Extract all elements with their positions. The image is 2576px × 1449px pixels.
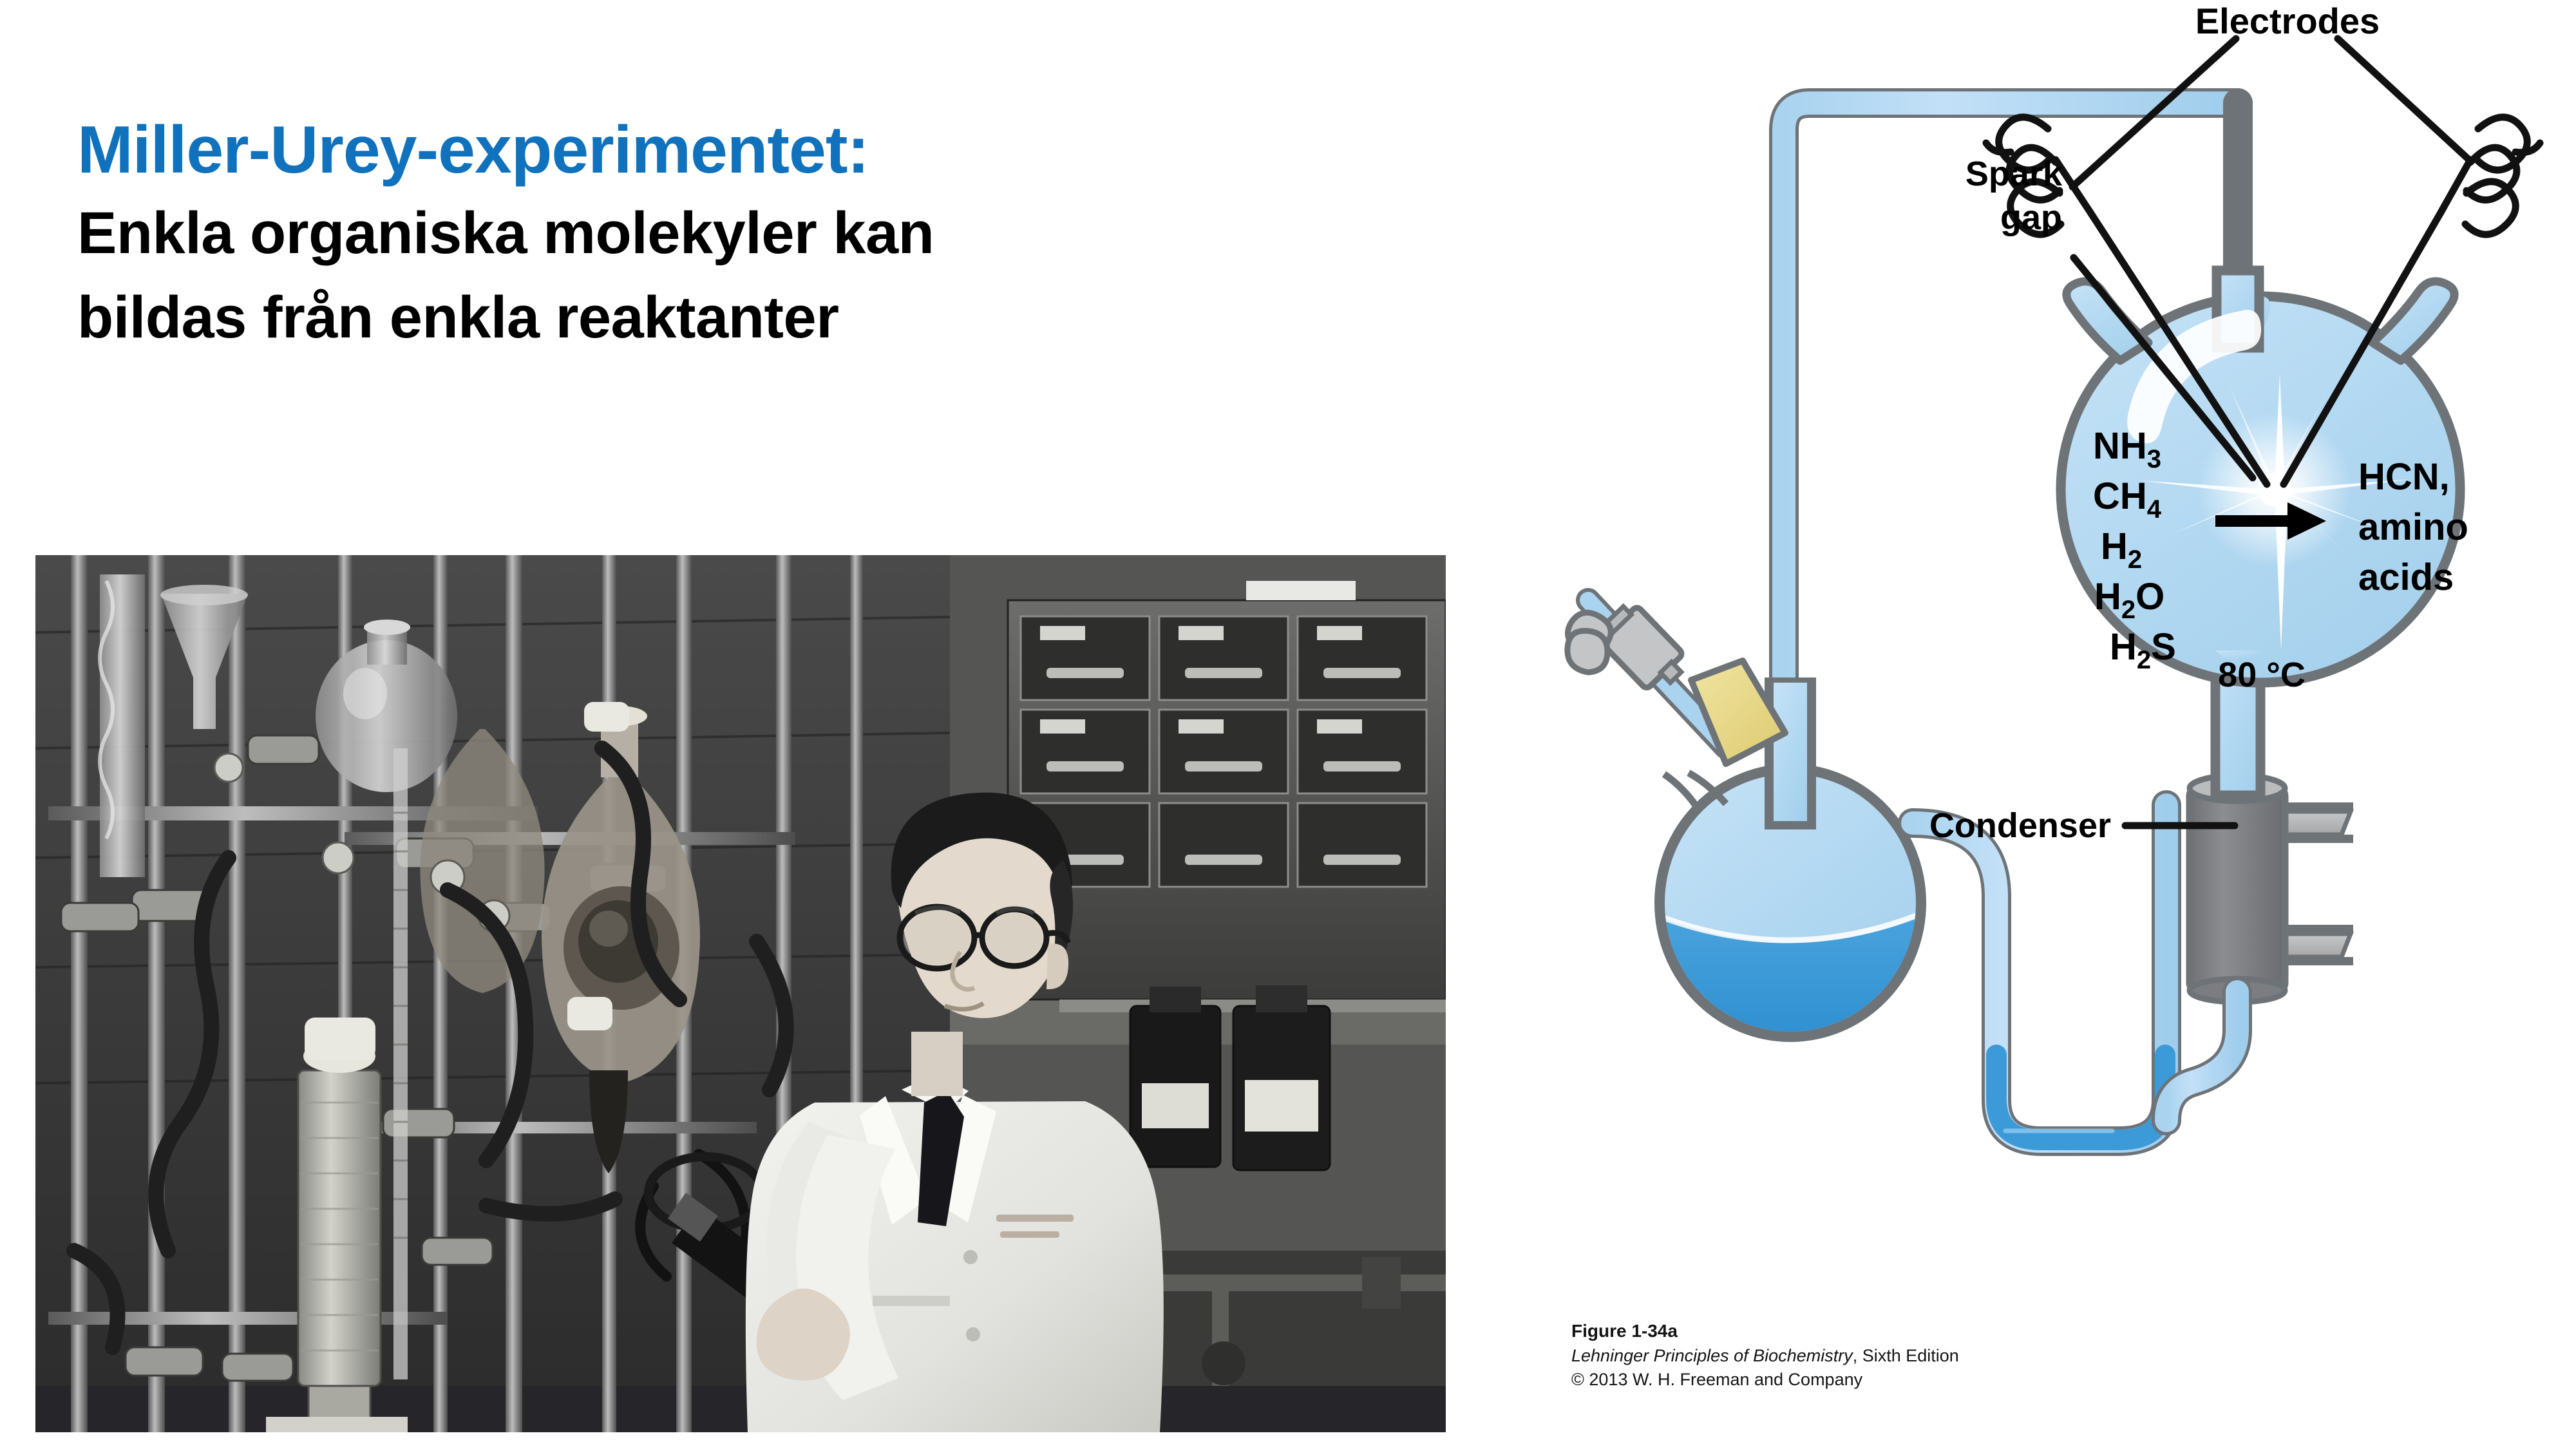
label-spark-gap-line1: Spark [1965, 155, 2063, 193]
caption-source-book: Lehninger Principles of Biochemistry, Si… [1571, 1344, 2344, 1368]
caption-figure-number: Figure 1-34a [1571, 1319, 2344, 1344]
product-acids: acids [2358, 556, 2454, 598]
miller-urey-apparatus-diagram: Electrodes Spark gap NH3 CH4 H2 H2O H2S … [1533, 0, 2576, 1449]
label-spark-gap-line2: gap [2000, 198, 2062, 237]
title-block: Miller-Urey-experimentet: Enkla organisk… [77, 109, 1301, 359]
product-amino: amino [2358, 506, 2468, 548]
subtitle-line-2: bildas från enkla reaktanter [77, 276, 1301, 360]
label-temperature: 80 °C [2218, 656, 2306, 694]
label-condenser: Condenser [1929, 806, 2111, 845]
product-hcn: HCN, [2358, 456, 2450, 498]
miller-urey-laboratory-photo [35, 555, 1446, 1432]
label-electrodes: Electrodes [2195, 1, 2380, 41]
slide-canvas: Miller-Urey-experimentet: Enkla organisk… [0, 0, 2576, 1449]
caption-copyright: © 2013 W. H. Freeman and Company [1571, 1368, 2344, 1392]
page-title: Miller-Urey-experimentet: [77, 109, 1301, 191]
caption-book-title: Lehninger Principles of Biochemistry [1571, 1346, 1853, 1365]
caption-book-edition: , Sixth Edition [1853, 1346, 1959, 1365]
subtitle-line-1: Enkla organiska molekyler kan [77, 191, 1301, 276]
figure-caption: Figure 1-34a Lehninger Principles of Bio… [1571, 1319, 2344, 1392]
